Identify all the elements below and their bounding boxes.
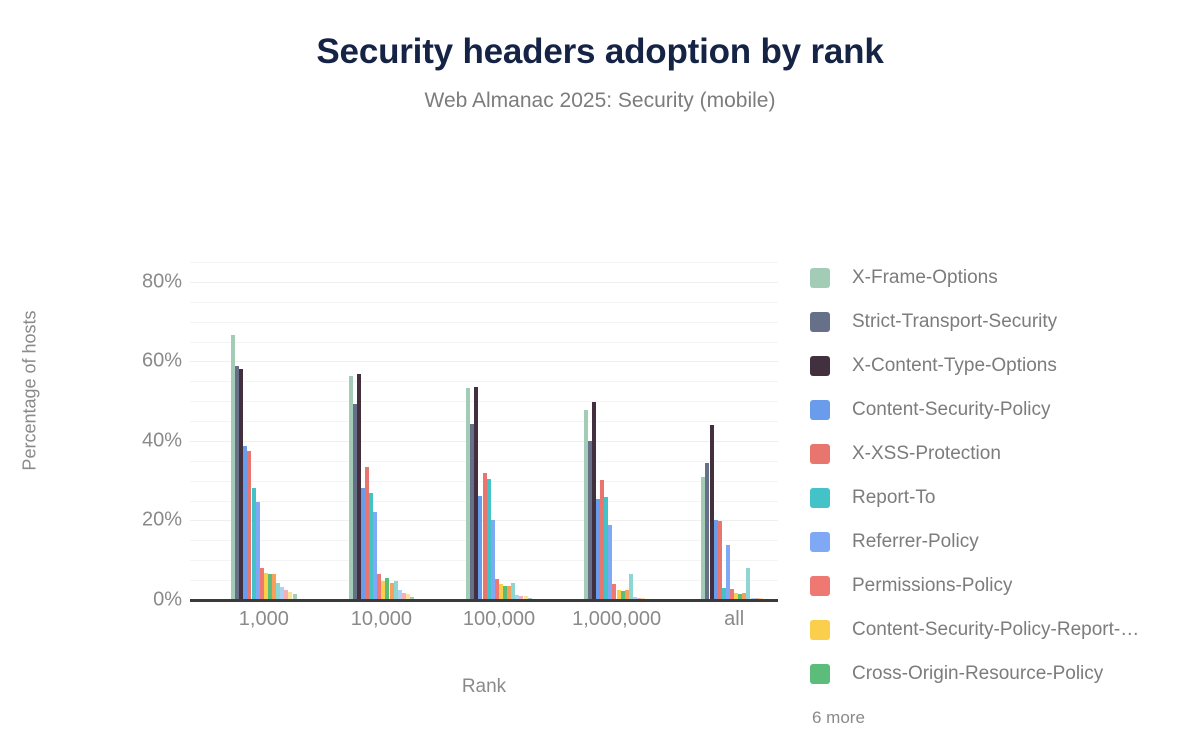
x-axis-line <box>190 599 778 602</box>
x-axis-tick-labels: 1,00010,000100,0001,000,000all <box>190 608 778 642</box>
x-axis-title: Rank <box>190 676 778 698</box>
bar-group <box>349 262 415 600</box>
bar[interactable] <box>746 568 750 600</box>
legend-swatch-icon <box>810 356 830 376</box>
legend-item-label: Referrer-Policy <box>852 531 979 553</box>
legend-item-label: Content-Security-Policy-Report-… <box>852 619 1139 641</box>
x-axis-tick-label: all <box>724 608 744 631</box>
x-axis-tick-label: 100,000 <box>463 608 535 631</box>
chart-figure: Security headers adoption by rank Web Al… <box>0 0 1200 742</box>
legend-item[interactable]: Referrer-Policy <box>810 520 1190 564</box>
chart-title: Security headers adoption by rank <box>0 32 1200 72</box>
legend-item[interactable]: Cross-Origin-Resource-Policy <box>810 652 1190 696</box>
legend-item[interactable]: X-Frame-Options <box>810 256 1190 300</box>
x-axis-tick-label: 10,000 <box>351 608 412 631</box>
y-axis-tick-label: 40% <box>108 429 182 452</box>
legend: X-Frame-OptionsStrict-Transport-Security… <box>810 256 1190 728</box>
legend-item-label: X-Frame-Options <box>852 267 998 289</box>
legend-swatch-icon <box>810 532 830 552</box>
legend-item-label: Strict-Transport-Security <box>852 311 1057 333</box>
legend-swatch-icon <box>810 664 830 684</box>
plot-area <box>190 262 778 600</box>
legend-item[interactable]: Report-To <box>810 476 1190 520</box>
legend-swatch-icon <box>810 576 830 596</box>
legend-swatch-icon <box>810 400 830 420</box>
legend-more-label: 6 more <box>812 708 1190 728</box>
bar-group <box>231 262 297 600</box>
chart-subtitle: Web Almanac 2025: Security (mobile) <box>0 89 1200 113</box>
x-axis-tick-label: 1,000,000 <box>572 608 661 631</box>
legend-item-label: Permissions-Policy <box>852 575 1012 597</box>
bar-group <box>466 262 532 600</box>
legend-item-label: Report-To <box>852 487 935 509</box>
y-axis-tick-label: 0% <box>108 589 182 612</box>
legend-item[interactable]: Strict-Transport-Security <box>810 300 1190 344</box>
y-axis-tick-label: 80% <box>108 270 182 293</box>
legend-item[interactable]: X-Content-Type-Options <box>810 344 1190 388</box>
y-axis-title: Percentage of hosts <box>20 291 41 491</box>
legend-swatch-icon <box>810 268 830 288</box>
x-axis-tick-label: 1,000 <box>239 608 289 631</box>
bar-group <box>701 262 767 600</box>
legend-item-label: X-Content-Type-Options <box>852 355 1057 377</box>
legend-item[interactable]: Permissions-Policy <box>810 564 1190 608</box>
y-axis-tick-labels: 0%20%40%60%80% <box>100 262 182 600</box>
legend-swatch-icon <box>810 312 830 332</box>
y-axis-tick-label: 60% <box>108 350 182 373</box>
y-axis-tick-label: 20% <box>108 509 182 532</box>
legend-item-label: X-XSS-Protection <box>852 443 1001 465</box>
legend-swatch-icon <box>810 444 830 464</box>
legend-swatch-icon <box>810 488 830 508</box>
legend-item[interactable]: X-XSS-Protection <box>810 432 1190 476</box>
legend-item-label: Content-Security-Policy <box>852 399 1051 421</box>
legend-item[interactable]: Content-Security-Policy-Report-… <box>810 608 1190 652</box>
legend-items: X-Frame-OptionsStrict-Transport-Security… <box>810 256 1190 696</box>
legend-swatch-icon <box>810 620 830 640</box>
bar-group <box>584 262 650 600</box>
legend-item[interactable]: Content-Security-Policy <box>810 388 1190 432</box>
legend-item-label: Cross-Origin-Resource-Policy <box>852 663 1103 685</box>
